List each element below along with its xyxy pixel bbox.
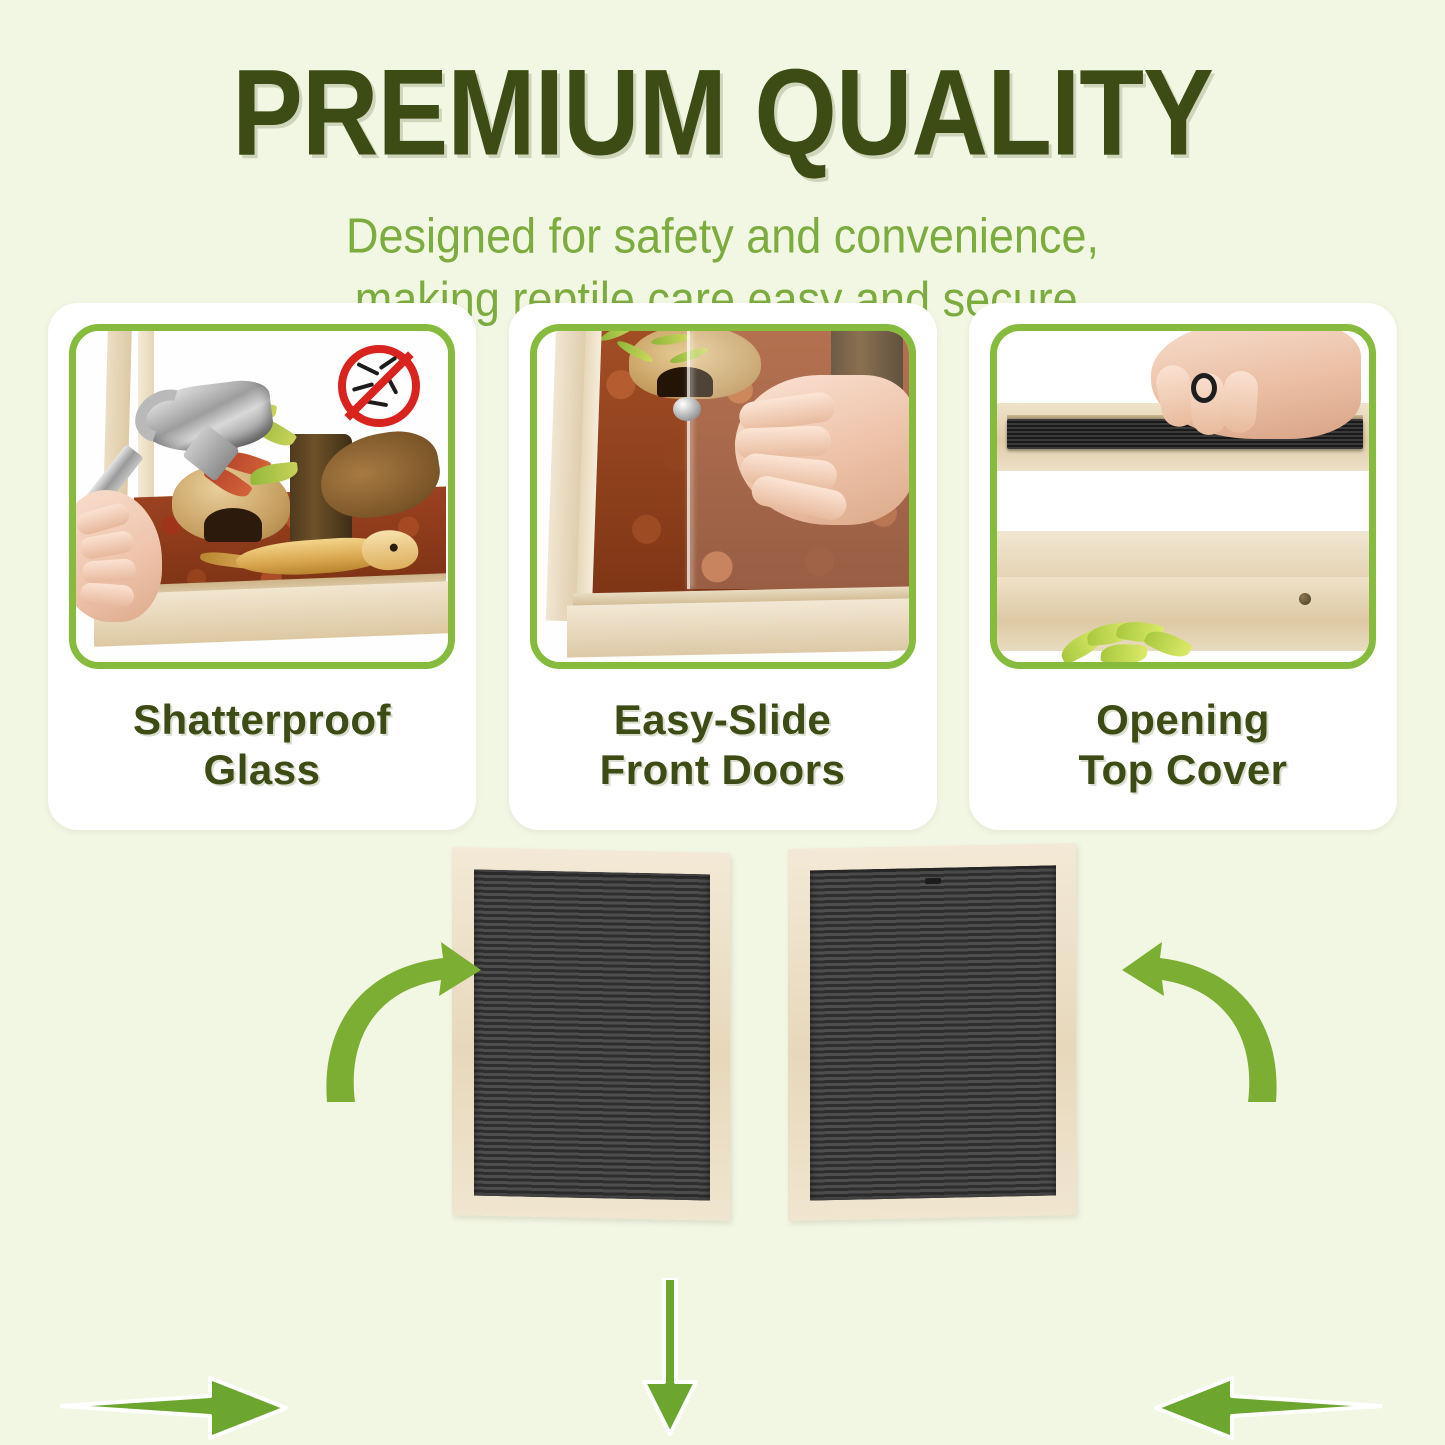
product-photo	[0, 832, 1445, 1445]
leaf	[615, 338, 655, 365]
subtitle-line-1: Designed for safety and convenience,	[0, 204, 1445, 267]
feature-label-opening-top-cover: Opening Top Cover	[969, 695, 1397, 794]
finger	[81, 558, 136, 584]
feature-label-easy-slide-front-doors: Easy-Slide Front Doors	[509, 695, 937, 794]
frame-base	[567, 598, 909, 657]
ring-pull-icon	[1191, 373, 1217, 403]
human-hand	[735, 375, 915, 525]
leaf	[624, 324, 665, 332]
dragon-eye	[389, 543, 398, 552]
no-crack-icon	[338, 345, 420, 427]
human-hand	[1151, 324, 1361, 439]
feature-card-row: Shatterproof Glass	[48, 303, 1397, 830]
label-line-1: Easy-Slide	[509, 695, 937, 745]
label-line-2: Glass	[48, 745, 476, 795]
card-photo-opening-top-cover	[990, 324, 1376, 669]
scene-hammer-test	[76, 331, 448, 662]
scene-sliding-door	[537, 331, 909, 662]
label-line-1: Shatterproof	[48, 695, 476, 745]
finger	[1221, 370, 1259, 434]
screen-panel-right	[788, 843, 1076, 1221]
scene-top-cover	[997, 331, 1369, 662]
feature-card-easy-slide-front-doors: Easy-Slide Front Doors	[509, 303, 937, 830]
curve-arrow-left-icon	[315, 930, 485, 1110]
feature-card-opening-top-cover: Opening Top Cover	[969, 303, 1397, 830]
leaf	[1100, 642, 1147, 665]
arrow-down-icon	[638, 1278, 702, 1438]
finger	[79, 582, 134, 608]
page-title: PREMIUM QUALITY	[0, 52, 1445, 175]
feature-card-shatterproof-glass: Shatterproof Glass	[48, 303, 476, 830]
glass-door-edge	[687, 331, 690, 589]
artificial-plant	[1059, 620, 1209, 666]
mesh-screen	[810, 865, 1056, 1200]
screen-panel-left	[452, 847, 730, 1221]
header: PREMIUM QUALITY Designed for safety and …	[0, 0, 1445, 319]
door-knob	[673, 397, 701, 421]
screen-notch	[925, 878, 941, 884]
mesh-screen	[474, 870, 710, 1201]
label-line-2: Front Doors	[509, 745, 937, 795]
card-photo-shatterproof-glass	[69, 324, 455, 669]
label-line-2: Top Cover	[969, 745, 1397, 795]
feature-label-shatterproof-glass: Shatterproof Glass	[48, 695, 476, 794]
arrow-left-to-right-icon	[60, 1376, 290, 1440]
screw-hole	[1299, 593, 1311, 605]
curve-arrow-right-icon	[1118, 930, 1288, 1110]
finger	[734, 425, 831, 458]
label-line-1: Opening	[969, 695, 1397, 745]
card-photo-easy-slide-front-doors	[530, 324, 916, 669]
leaf	[650, 332, 691, 346]
arrow-right-to-left-icon	[1152, 1376, 1382, 1440]
